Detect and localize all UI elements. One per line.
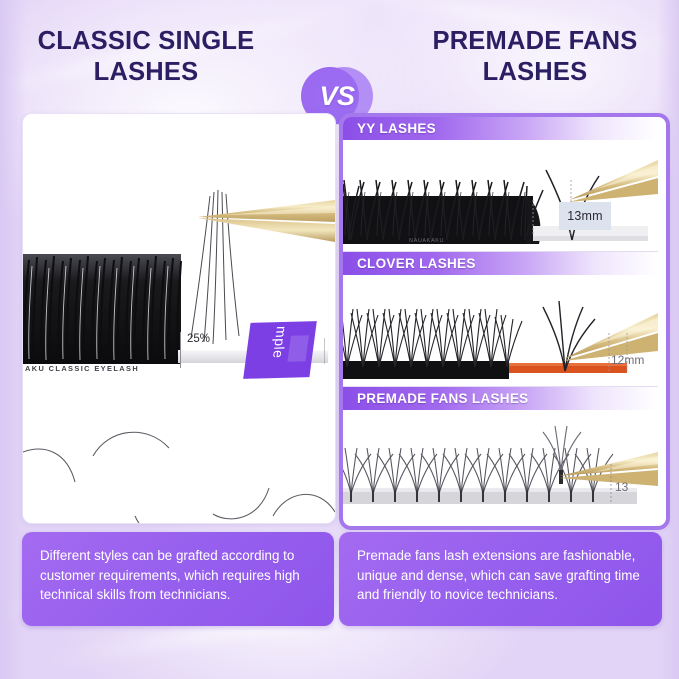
single-clover-fan [543,301,595,371]
measurement-badge-premade: 13 [615,480,628,494]
classic-lashes-panel: AKU CLASSIC EYELASH 25% mple [22,113,336,524]
section-clover-lashes: CLOVER LASHES [343,252,658,387]
section-header-bar: CLOVER LASHES [343,252,658,275]
svg-text:NAUAKAKU: NAUAKAKU [409,238,444,244]
section-title: PREMADE FANS LASHES [357,391,528,406]
caption-text: Premade fans lash extensions are fashion… [357,548,640,602]
clover-lashes-artwork [343,275,658,387]
tweezer-icon [569,160,658,202]
premade-fans-caption: Premade fans lash extensions are fashion… [339,532,662,626]
measurement-badge-clover: 12mm [611,353,644,367]
classic-lash-tray [23,254,181,364]
section-title: YY LASHES [357,121,436,136]
premade-fans-artwork [343,410,658,518]
clover-lash-tray [343,309,522,379]
measurement-badge-yy: 13mm [559,202,611,230]
sample-tray-tag: mple [243,321,317,379]
classic-lashes-caption: Different styles can be grafted accordin… [22,532,334,626]
classic-panel-artwork [23,114,335,523]
header: CLASSIC SINGLE LASHES VS PREMADE FANS LA… [0,26,679,102]
percent-label: 25% [187,333,210,345]
caption-text: Different styles can be grafted accordin… [40,548,300,602]
tray-brand-label: AKU CLASSIC EYELASH [25,364,139,373]
yy-lashes-artwork: NAUAKAKU [343,140,658,252]
ruler-tick [180,332,181,368]
section-body: 13 [343,410,658,518]
premade-fan-row [343,448,613,494]
tag-sheen [287,335,309,361]
premade-fans-panel: YY LASHES [339,113,670,530]
section-header-bar: YY LASHES [343,117,658,140]
sample-tray-tag-text: mple [270,326,290,359]
poster-canvas: CLASSIC SINGLE LASHES VS PREMADE FANS LA… [0,0,679,679]
tweezer-icon [198,200,335,242]
section-title: CLOVER LASHES [357,256,476,271]
ruler-tick [324,338,325,364]
section-header-bar: PREMADE FANS LASHES [343,387,658,410]
section-body: 12mm [343,275,658,387]
page-title-left: CLASSIC SINGLE LASHES [10,26,282,88]
page-title-right: PREMADE FANS LASHES [399,26,671,88]
yy-lash-tray: NAUAKAKU [343,180,543,244]
loose-lash-strands [23,432,335,523]
single-premade-fan [543,426,581,472]
section-premade-fans-lashes: PREMADE FANS LASHES [343,387,658,518]
section-body: NAUAKAKU [343,140,658,252]
section-yy-lashes: YY LASHES [343,117,658,252]
